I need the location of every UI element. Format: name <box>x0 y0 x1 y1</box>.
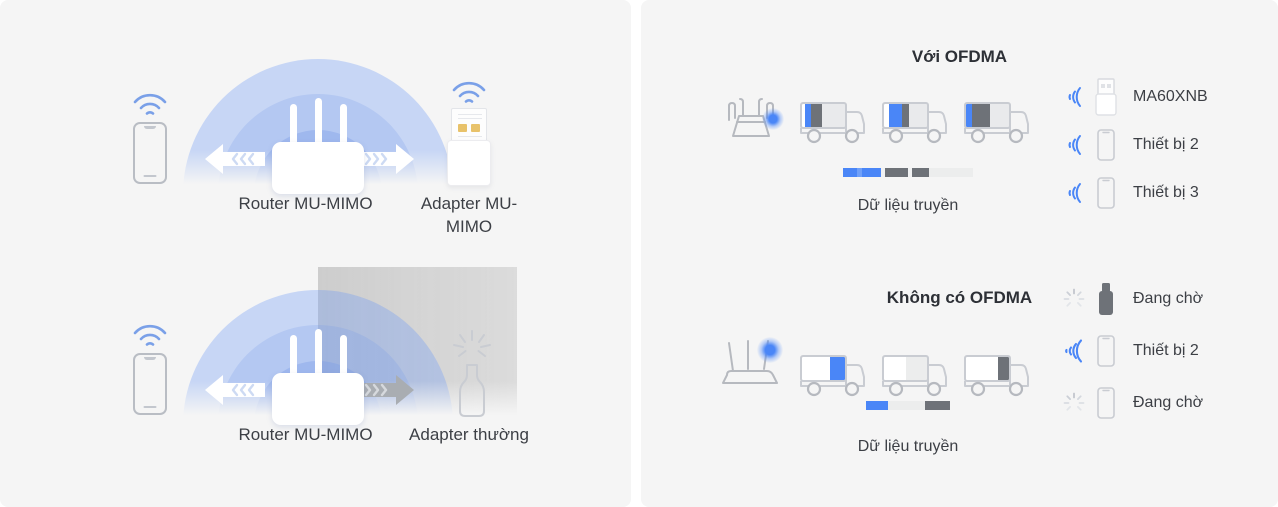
device-label: MA60XNB <box>1123 88 1208 106</box>
truck-icon <box>963 100 1035 146</box>
router-status-glow <box>757 337 783 363</box>
data-transfer-label: Dữ liệu truyền <box>788 438 1028 456</box>
usb-adapter-filled-icon <box>1089 282 1123 316</box>
scene-mu-mimo-generic-adapter: Router MU-MIMO Adapter thường <box>0 253 631 506</box>
arrow-left-icon <box>203 142 267 176</box>
block-without-ofdma: Không có OFDMA <box>641 253 1278 507</box>
router-caption: Router MU-MIMO <box>238 192 373 215</box>
usb-adapter-icon <box>447 108 491 186</box>
wifi-waves-icon <box>131 321 169 352</box>
device-caption: Adapter thường <box>406 423 532 446</box>
left-panel-mu-mimo: Router MU-MIMO Adapter MU-MIMO <box>0 0 631 507</box>
wifi6-router-icon <box>721 96 781 149</box>
device-label: Đang chờ <box>1123 394 1203 412</box>
list-item[interactable]: Thiết bị 2 <box>1059 325 1203 377</box>
device-list: MA60XNB <box>1059 73 1208 217</box>
phone-icon <box>133 353 167 415</box>
wifi-waves-icon <box>1059 181 1089 205</box>
phone-icon <box>1089 129 1123 161</box>
data-transfer-label: Dữ liệu truyền <box>788 197 1028 215</box>
right-panel-ofdma: Với OFDMA <box>641 0 1278 507</box>
data-transfer-bar <box>843 168 973 177</box>
device-label: Đang chờ <box>1123 290 1203 308</box>
device-caption: Adapter MU-MIMO <box>404 192 534 238</box>
wifi-waves-icon <box>1059 133 1089 157</box>
truck-row <box>799 353 1035 399</box>
phone-icon <box>1089 335 1123 367</box>
router-icon <box>272 102 364 194</box>
router-caption: Router MU-MIMO <box>238 423 373 446</box>
device-label: Thiết bị 2 <box>1123 342 1199 360</box>
truck-icon <box>799 353 871 399</box>
phone-icon <box>1089 387 1123 419</box>
wifi-waves-icon <box>450 78 488 109</box>
list-item[interactable]: Đang chờ <box>1059 377 1203 429</box>
truck-icon <box>963 353 1035 399</box>
phone-icon <box>1089 177 1123 209</box>
data-transfer-bar <box>866 401 950 410</box>
list-item[interactable]: Đang chờ <box>1059 273 1203 325</box>
classic-router-icon <box>721 331 785 396</box>
list-item[interactable]: Thiết bị 3 <box>1059 169 1208 217</box>
usb-adapter-icon <box>1089 78 1123 116</box>
comparison-infographic: Router MU-MIMO Adapter MU-MIMO <box>0 0 1278 507</box>
arrow-left-icon <box>203 373 267 407</box>
list-item[interactable]: Thiết bị 2 <box>1059 121 1208 169</box>
device-label: Thiết bị 3 <box>1123 184 1199 202</box>
truck-icon <box>881 353 953 399</box>
router-status-glow <box>762 108 784 130</box>
truck-row <box>799 100 1035 146</box>
device-list: Đang chờ <box>1059 273 1203 429</box>
wifi-waves-icon <box>131 90 169 121</box>
generic-adapter-icon <box>456 363 488 419</box>
wifi-waves-icon <box>1059 338 1089 364</box>
loading-spinner-icon <box>1059 392 1089 414</box>
phone-icon <box>133 122 167 184</box>
loading-spinner-icon <box>1059 288 1089 310</box>
block-title: Với OFDMA <box>641 47 1278 67</box>
truck-icon <box>799 100 871 146</box>
scene-mu-mimo-adapter: Router MU-MIMO Adapter MU-MIMO <box>0 0 631 253</box>
list-item[interactable]: MA60XNB <box>1059 73 1208 121</box>
device-label: Thiết bị 2 <box>1123 136 1199 154</box>
truck-icon <box>881 100 953 146</box>
block-with-ofdma: Với OFDMA <box>641 0 1278 253</box>
router-icon <box>272 333 364 425</box>
wifi-waves-icon <box>1059 85 1089 109</box>
